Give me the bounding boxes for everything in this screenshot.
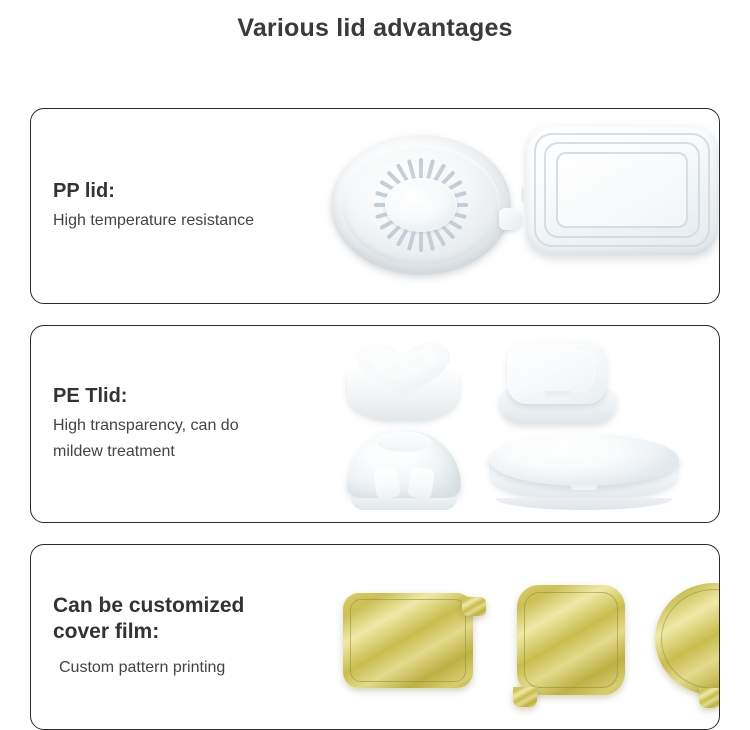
oval-clear-lid-image [489,434,679,510]
lid-top-surface [489,434,679,486]
foil-emboss-line [661,589,720,689]
pet-lid-grid [321,326,719,522]
rectangular-pp-lid-image [526,125,718,255]
advantage-card-cover-film: Can be customized cover film: Custom pat… [30,544,720,730]
card-text-block: Can be customized cover film: Custom pat… [31,593,321,681]
foil-emboss-line [350,599,466,682]
lid-clip [545,391,571,400]
square-clear-lid-image [499,340,617,424]
card-subtitle: High transparency, can do mildew treatme… [53,413,321,465]
card-subtitle: Custom pattern printing [53,655,321,681]
card-figure-area [321,545,719,729]
round-pp-lid-image [331,135,511,275]
card-figure-area [321,326,719,522]
gold-foil-rectangular-lid-image [343,593,473,688]
card-subtitle: High temperature resistance [53,208,321,234]
lid-dome-panel-left [373,466,401,499]
foil-tab [699,688,720,708]
card-figure-area [321,109,719,303]
lid-tab [499,208,521,230]
gold-foil-round-lid-image [655,583,720,695]
lid-notch [521,187,532,203]
lid-dome-top-circle [377,432,431,452]
card-heading: Can be customized cover film: [53,593,321,645]
gold-foil-lid-row [321,545,719,729]
lid-inner-panel [519,350,595,392]
card-text-block: PP lid: High temperature resistance [31,179,321,234]
lid-notch [571,482,597,490]
foil-tab [513,687,537,707]
heart-shaped-clear-lid-image [343,340,463,420]
foil-emboss-line [524,592,618,688]
lid-dome-panel-right [407,466,435,499]
gold-foil-square-lid-image [517,585,625,695]
page-title: Various lid advantages [0,0,750,48]
lid-rib-ring-inner [556,152,688,228]
card-heading: PP lid: [53,179,321,204]
lid-lip [495,498,673,510]
advantage-card-pp-lid: PP lid: High temperature resistance [30,108,720,304]
lid-center-oval [385,178,457,231]
card-heading: PE Tlid: [53,384,321,409]
foil-tab [462,597,486,616]
dome-clear-lid-image [347,430,461,510]
card-text-block: PE Tlid: High transparency, can do milde… [31,384,321,465]
lid-dome-base [351,498,457,510]
advantage-card-pet-lid: PE Tlid: High transparency, can do milde… [30,325,720,523]
